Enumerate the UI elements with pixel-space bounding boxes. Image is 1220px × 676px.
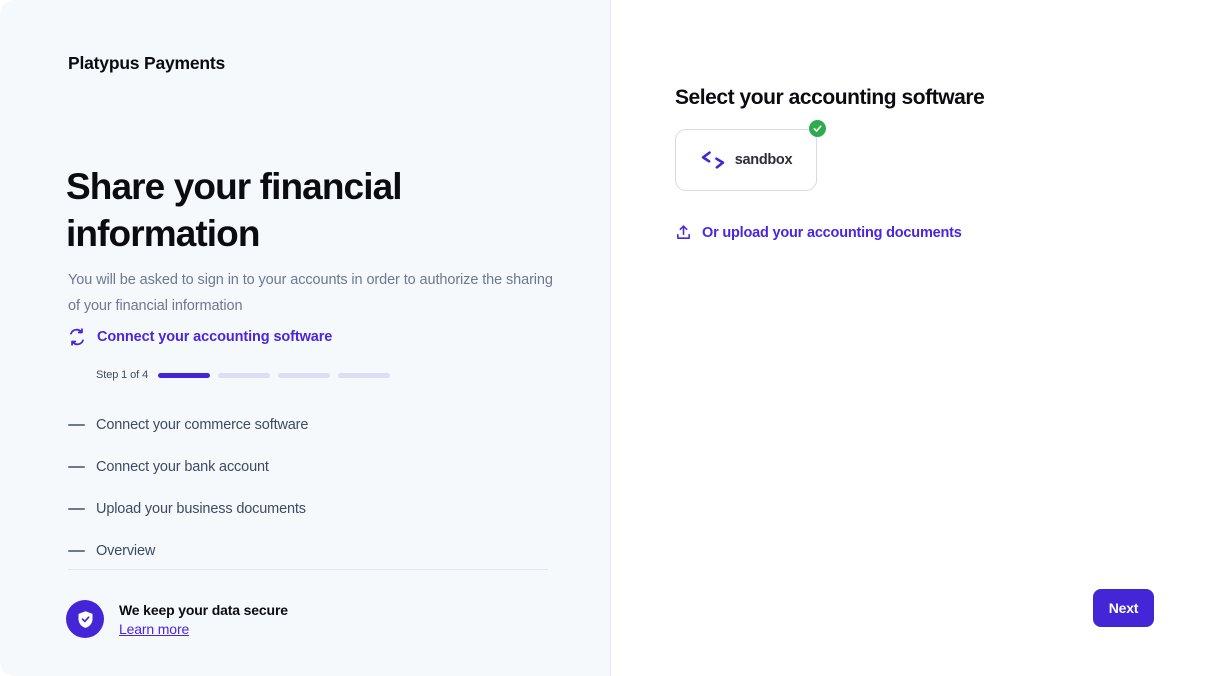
security-title: We keep your data secure (119, 602, 288, 618)
software-card-sandbox[interactable]: sandbox (675, 129, 817, 191)
list-item[interactable]: Overview (68, 530, 548, 572)
step-label: Upload your business documents (96, 501, 306, 517)
active-step-label: Connect your accounting software (97, 329, 332, 345)
dash-icon (68, 466, 85, 469)
security-notice: We keep your data secure Learn more (66, 600, 288, 638)
right-panel: Select your accounting software sandbox (611, 0, 1220, 676)
left-panel: Platypus Payments Share your financial i… (0, 0, 611, 676)
step-list: Connect your commerce software Connect y… (68, 404, 548, 572)
progress-track (158, 373, 390, 378)
list-item[interactable]: Connect your commerce software (68, 404, 548, 446)
dash-icon (68, 508, 85, 511)
dash-icon (68, 424, 85, 427)
step-label: Connect your bank account (96, 459, 269, 475)
next-button[interactable]: Next (1093, 589, 1154, 627)
upload-documents-link[interactable]: Or upload your accounting documents (675, 224, 962, 241)
progress-segment (338, 373, 390, 378)
step-label: Connect your commerce software (96, 417, 308, 433)
dash-icon (68, 550, 85, 553)
progress-segment (278, 373, 330, 378)
progress-segment (218, 373, 270, 378)
upload-link-label: Or upload your accounting documents (702, 225, 962, 241)
check-circle-icon (809, 120, 826, 137)
page-title: Share your financial information (66, 163, 486, 257)
divider (68, 569, 548, 570)
shield-check-icon (66, 600, 104, 638)
page-subtitle: You will be asked to sign in to your acc… (68, 267, 553, 319)
upload-icon (675, 224, 692, 241)
brand-title: Platypus Payments (68, 53, 225, 74)
sync-icon (68, 328, 86, 346)
section-title: Select your accounting software (675, 86, 984, 110)
learn-more-link[interactable]: Learn more (119, 621, 288, 637)
progress-label: Step 1 of 4 (96, 369, 148, 381)
software-card-wrapper: sandbox (675, 129, 817, 191)
progress-indicator: Step 1 of 4 (96, 369, 390, 381)
step-label: Overview (96, 543, 155, 559)
security-texts: We keep your data secure Learn more (119, 602, 288, 637)
software-name: sandbox (735, 152, 793, 168)
code-chevrons-icon (700, 150, 726, 170)
list-item[interactable]: Upload your business documents (68, 488, 548, 530)
onboarding-page: Platypus Payments Share your financial i… (0, 0, 1220, 676)
list-item[interactable]: Connect your bank account (68, 446, 548, 488)
progress-segment (158, 373, 210, 378)
active-step[interactable]: Connect your accounting software (68, 328, 332, 346)
